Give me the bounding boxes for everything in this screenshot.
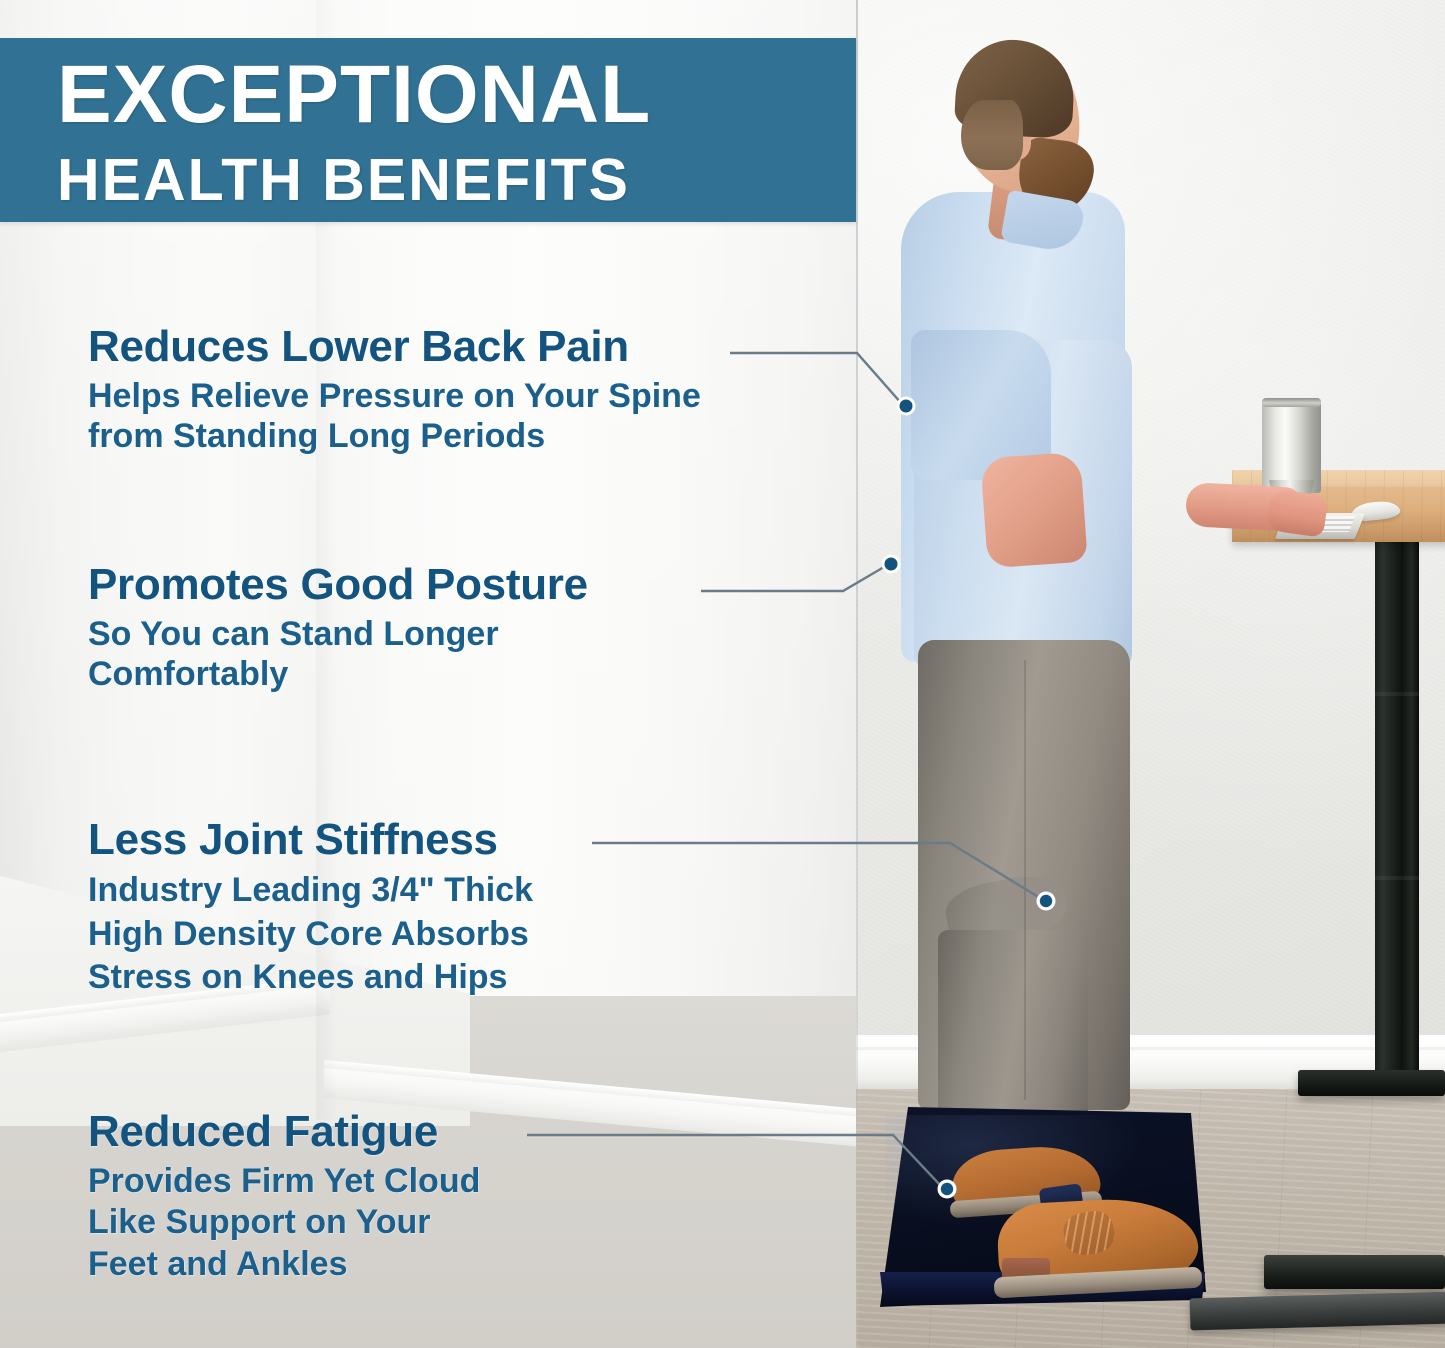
tumbler-lip xyxy=(1262,398,1321,407)
benefit-block-reduces-lower-back-pain: Reduces Lower Back Pain Helps Relieve Pr… xyxy=(88,325,701,456)
floor-trim-strip xyxy=(1190,1292,1445,1331)
header-title-line1: EXCEPTIONAL xyxy=(57,54,651,136)
benefit-detail-line: Helps Relieve Pressure on Your Spine xyxy=(88,376,701,416)
benefit-detail-line: Provides Firm Yet Cloud xyxy=(88,1161,480,1202)
desk-leg-column-inner xyxy=(1401,540,1419,1075)
desk-foot-base xyxy=(1264,1255,1445,1289)
benefit-detail-line: Comfortably xyxy=(88,654,588,694)
benefit-title: Less Joint Stiffness xyxy=(88,818,533,862)
steel-tumbler xyxy=(1262,398,1321,493)
benefit-title: Reduced Fatigue xyxy=(88,1110,480,1154)
person-pants-seam xyxy=(1024,660,1026,1100)
benefit-detail-line: Like Support on Your xyxy=(88,1202,480,1243)
header-banner: EXCEPTIONAL HEALTH BENEFITS xyxy=(0,38,856,222)
person-arm xyxy=(980,452,1087,569)
photo-left-seam xyxy=(856,0,858,1348)
benefit-detail-line: Stress on Knees and Hips xyxy=(88,956,533,1000)
infographic-canvas: EXCEPTIONAL HEALTH BENEFITS Reduces Lowe… xyxy=(0,0,1445,1348)
benefit-block-reduced-fatigue: Reduced Fatigue Provides Firm Yet Cloud … xyxy=(88,1110,480,1285)
benefit-title: Reduces Lower Back Pain xyxy=(88,325,701,369)
header-title-line2: HEALTH BENEFITS xyxy=(57,151,630,210)
person-hair-side xyxy=(961,100,1023,170)
benefit-block-less-joint-stiffness: Less Joint Stiffness Industry Leading 3/… xyxy=(88,818,533,1000)
desk-leg-joint-lower xyxy=(1375,876,1419,880)
desk-foot-upper xyxy=(1298,1070,1445,1096)
desk-leg-joint-upper xyxy=(1375,692,1419,696)
benefit-detail-line: from Standing Long Periods xyxy=(88,416,701,456)
benefit-block-promotes-good-posture: Promotes Good Posture So You can Stand L… xyxy=(88,563,588,694)
benefit-detail-line: Feet and Ankles xyxy=(88,1244,480,1285)
benefit-detail-line: So You can Stand Longer xyxy=(88,614,588,654)
product-photo xyxy=(856,0,1445,1348)
benefit-detail-line: Industry Leading 3/4" Thick xyxy=(88,869,533,913)
benefit-title: Promotes Good Posture xyxy=(88,563,588,607)
benefit-detail-line: High Density Core Absorbs xyxy=(88,913,533,957)
